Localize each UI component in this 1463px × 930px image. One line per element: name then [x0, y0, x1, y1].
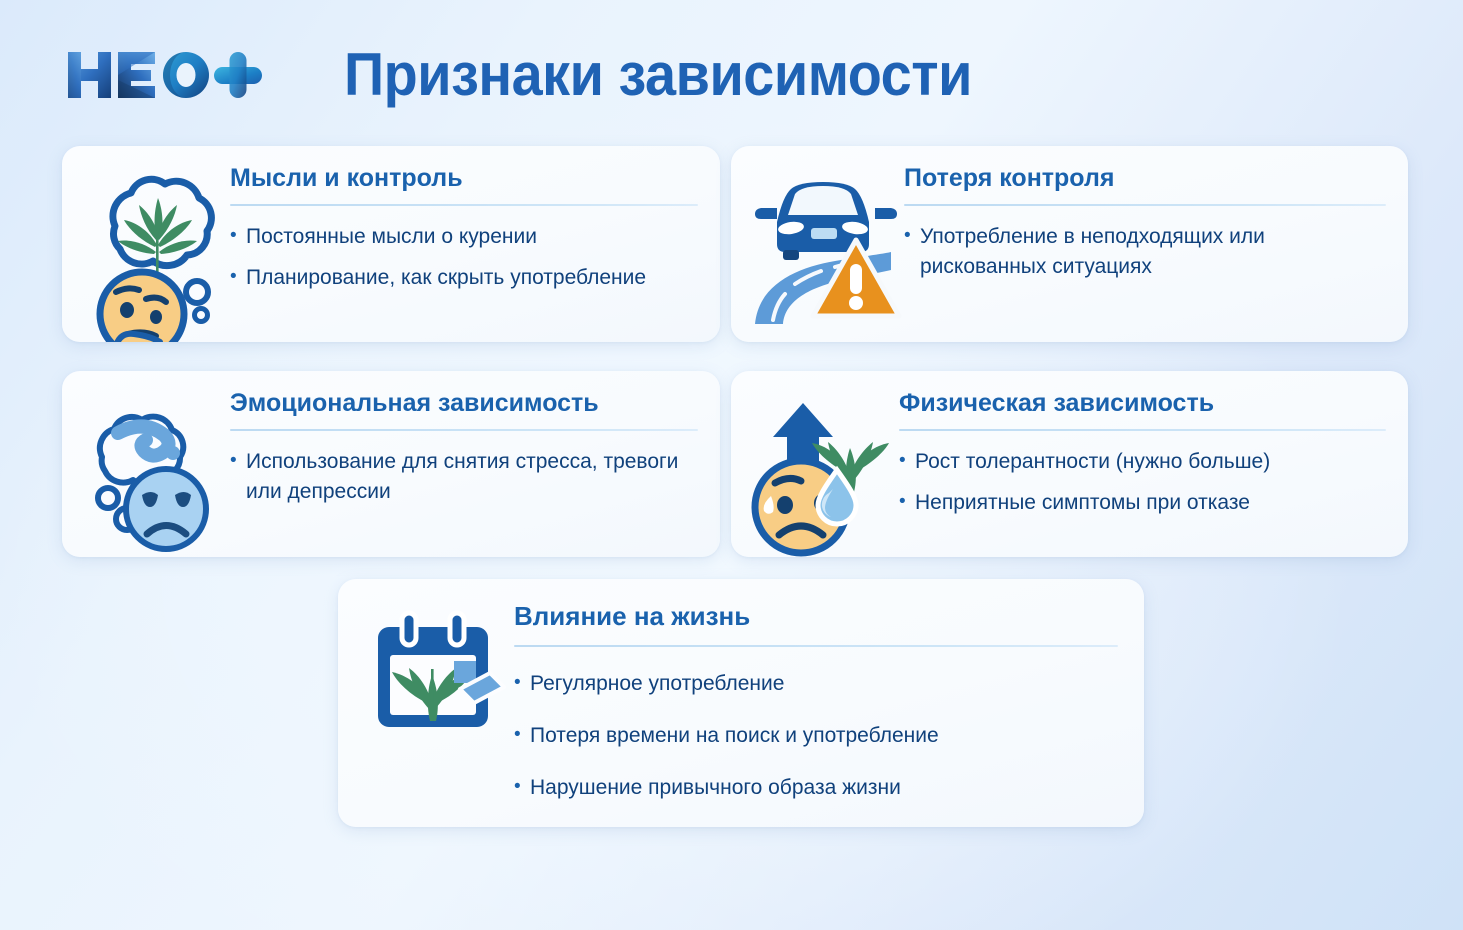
bullet-list: • Регулярное употребление • Потеря време… [514, 669, 1118, 802]
header: Признаки зависимости [0, 0, 1463, 140]
card-loss-of-control[interactable]: Потеря контроля • Употребление в неподхо… [731, 146, 1408, 342]
card-body: Влияние на жизнь • Регулярное употреблен… [514, 601, 1118, 802]
card-body: Физическая зависимость • Рост толерантно… [899, 389, 1386, 518]
card-divider [230, 204, 698, 206]
infographic-canvas: Признаки зависимости [0, 0, 1463, 930]
bullet-text: Использование для снятия стресса, тревог… [246, 447, 698, 507]
list-item: • Постоянные мысли о курении [230, 222, 698, 252]
bullet-list: • Рост толерантности (нужно больше) • Не… [899, 447, 1386, 518]
bullet-text: Потеря времени на поиск и употребление [530, 721, 1118, 751]
bullet-marker: • [899, 488, 915, 517]
card-heading: Влияние на жизнь [514, 601, 1118, 632]
bullet-marker: • [514, 721, 530, 750]
bullet-text: Неприятные симптомы при отказе [915, 488, 1386, 518]
bullet-marker: • [899, 447, 915, 476]
bullet-marker: • [904, 222, 920, 251]
card-heading: Физическая зависимость [899, 389, 1386, 418]
card-body: Потеря контроля • Употребление в неподхо… [904, 164, 1386, 282]
neo-plus-logo [62, 44, 282, 106]
card-body: Мысли и контроль • Постоянные мысли о ку… [230, 164, 698, 293]
bullet-text: Нарушение привычного образа жизни [530, 773, 1118, 803]
card-physical-dependence[interactable]: Физическая зависимость • Рост толерантно… [731, 371, 1408, 557]
card-life-impact[interactable]: Влияние на жизнь • Регулярное употреблен… [338, 579, 1144, 827]
page-title: Признаки зависимости [344, 40, 972, 109]
card-divider [514, 645, 1118, 647]
bullet-text: Регулярное употребление [530, 669, 1118, 699]
card-body: Эмоциональная зависимость • Использовани… [230, 389, 698, 507]
list-item: • Употребление в неподходящих или рисков… [904, 222, 1386, 282]
bullet-list: • Постоянные мысли о курении • Планирова… [230, 222, 698, 293]
thinking-face-cannabis-thought-bubble-icon [80, 164, 230, 342]
card-emotional-dependence[interactable]: Эмоциональная зависимость • Использовани… [62, 371, 720, 557]
bullet-marker: • [514, 669, 530, 698]
card-divider [904, 204, 1386, 206]
list-item: • Неприятные симптомы при отказе [899, 488, 1386, 518]
card-heading: Мысли и контроль [230, 164, 698, 193]
list-item: • Регулярное употребление [514, 669, 1118, 699]
card-heading: Эмоциональная зависимость [230, 389, 698, 418]
sad-blue-face-thought-cloud-icon [80, 389, 230, 557]
bullet-list: • Использование для снятия стресса, трев… [230, 447, 698, 507]
car-road-warning-triangle-icon [749, 164, 904, 342]
bullet-marker: • [230, 447, 246, 476]
list-item: • Планирование, как скрыть употребление [230, 263, 698, 293]
list-item: • Нарушение привычного образа жизни [514, 773, 1118, 803]
bullet-list: • Употребление в неподходящих или рисков… [904, 222, 1386, 282]
list-item: • Рост толерантности (нужно больше) [899, 447, 1386, 477]
bullet-marker: • [514, 773, 530, 802]
list-item: • Использование для снятия стресса, трев… [230, 447, 698, 507]
card-divider [230, 429, 698, 431]
card-thoughts[interactable]: Мысли и контроль • Постоянные мысли о ку… [62, 146, 720, 342]
bullet-marker: • [230, 222, 246, 251]
bullet-text: Рост толерантности (нужно больше) [915, 447, 1386, 477]
bullet-text: Постоянные мысли о курении [246, 222, 698, 252]
neo-plus-logo-icon [62, 44, 282, 106]
bullet-text: Употребление в неподходящих или рискован… [920, 222, 1386, 282]
list-item: • Потеря времени на поиск и употребление [514, 721, 1118, 751]
bullet-marker: • [230, 263, 246, 292]
bullet-text: Планирование, как скрыть употребление [246, 263, 698, 293]
calendar-cannabis-leaf-icon [364, 601, 514, 734]
card-divider [899, 429, 1386, 431]
anxious-sweating-face-up-arrow-leaf-icon [749, 389, 899, 557]
card-heading: Потеря контроля [904, 164, 1386, 193]
